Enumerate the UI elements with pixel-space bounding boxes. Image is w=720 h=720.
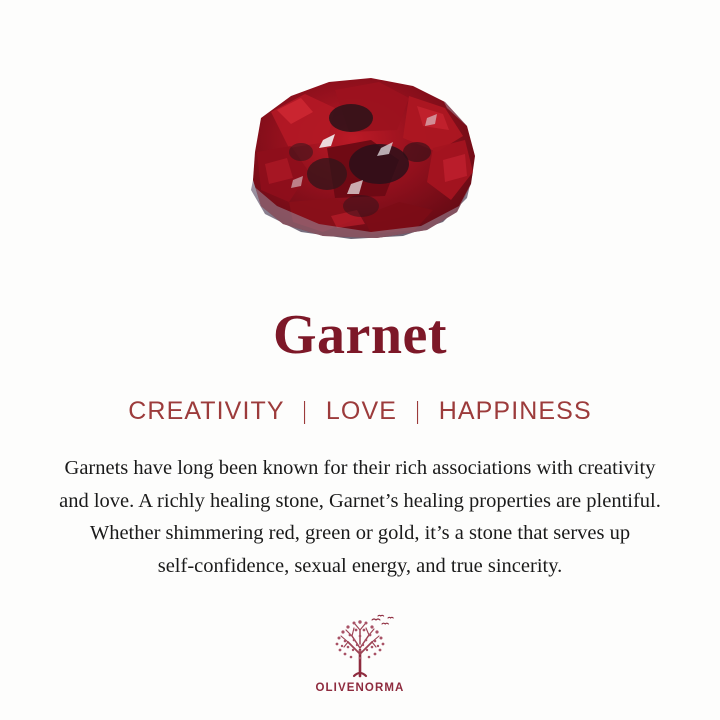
description-line: Whether shimmering red, green or gold, i…: [12, 517, 708, 550]
page-title: Garnet: [0, 306, 720, 365]
description-line: and love. A richly healing stone, Garnet…: [12, 485, 708, 518]
keyword-tagline: CREATIVITY | LOVE | HAPPINESS: [0, 398, 720, 426]
description-line: Garnets have long been known for their r…: [12, 452, 708, 485]
tagline-item-happiness: HAPPINESS: [439, 397, 592, 425]
garnet-info-card: Garnet CREATIVITY | LOVE | HAPPINESS Gar…: [0, 0, 720, 720]
garnet-crystal-illustration: [231, 56, 489, 242]
description-text: Garnets have long been known for their r…: [12, 452, 708, 582]
brand-logo: OLIVENORMA: [0, 614, 720, 694]
tree-icon: [326, 614, 394, 680]
garnet-stone-image: [0, 46, 720, 251]
tagline-separator: |: [416, 398, 420, 426]
tagline-separator: |: [303, 398, 307, 426]
brand-wordmark: OLIVENORMA: [316, 682, 405, 694]
tagline-item-love: LOVE: [326, 397, 397, 425]
birds-icon: [372, 615, 393, 624]
tagline-item-creativity: CREATIVITY: [128, 397, 284, 425]
description-line: self-confidence, sexual energy, and true…: [12, 550, 708, 583]
